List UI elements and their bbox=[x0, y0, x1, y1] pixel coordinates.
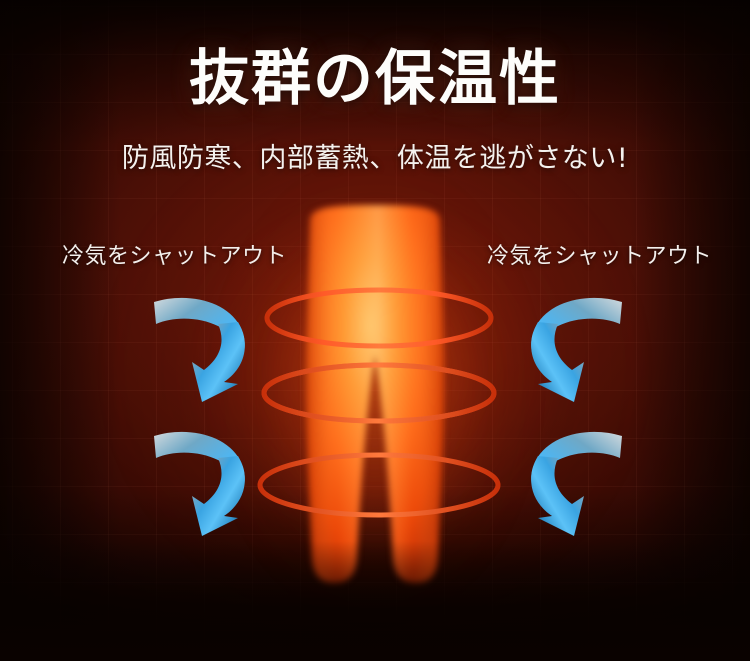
label-cold-block-left: 冷気をシャットアウト bbox=[62, 238, 287, 270]
label-cold-block-right: 冷気をシャットアウト bbox=[487, 238, 712, 270]
cold-air-arrow-left-top bbox=[152, 296, 264, 404]
cold-air-arrow-right-bottom bbox=[512, 430, 624, 538]
heat-ring-bottom bbox=[253, 448, 497, 514]
page-title: 抜群の保温性 bbox=[189, 48, 561, 111]
cold-air-arrow-right-top bbox=[512, 296, 624, 404]
cold-air-arrow-left-bottom bbox=[152, 430, 264, 538]
heat-ring-middle bbox=[257, 358, 493, 420]
headline-block: 抜群の保温性 bbox=[0, 48, 750, 111]
page-subtitle: 防風防寒、内部蓄熱、体温を逃がさない! bbox=[0, 136, 750, 175]
heat-ring-top bbox=[260, 283, 490, 345]
thermal-pants-promo-poster: 抜群の保温性 防風防寒、内部蓄熱、体温を逃がさない! 冷気をシャットアウト 冷気… bbox=[0, 0, 750, 661]
